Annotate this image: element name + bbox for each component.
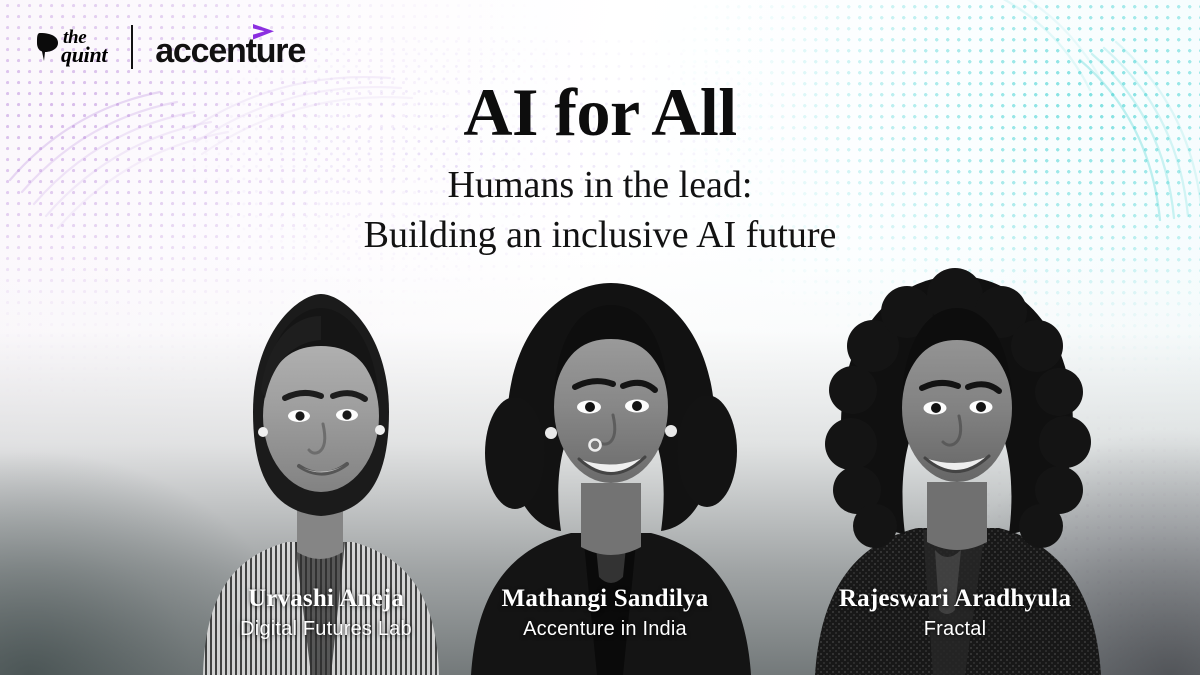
page-subtitle: Humans in the lead: Building an inclusiv… [0,161,1200,260]
accenture-logo[interactable]: accenture [155,26,305,68]
quint-line-quint: quint [61,46,107,64]
the-quint-logo[interactable]: the quint [36,30,107,64]
the-quint-wordmark: the quint [61,30,107,64]
speaker-name-2: Mathangi Sandilya [425,584,785,614]
accenture-wordmark: accenture [155,34,305,68]
page-title: AI for All [0,78,1200,147]
logo-bar: the quint accenture [36,22,305,72]
speaker-caption-2: Mathangi Sandilya Accenture in India [425,584,785,643]
subtitle-line-2: Building an inclusive AI future [0,211,1200,260]
subtitle-line-1: Humans in the lead: [0,161,1200,210]
greater-than-arrow-icon [250,22,278,42]
speaker-org-3: Fractal [775,616,1135,643]
logo-divider [131,25,133,69]
speaker-name-3: Rajeswari Aradhyula [775,584,1135,614]
speaker-org-2: Accenture in India [425,616,785,643]
speech-bubble-icon [36,32,60,62]
promo-banner: the quint accenture AI for All Humans in… [0,0,1200,675]
headline-block: AI for All Humans in the lead: Building … [0,78,1200,260]
speaker-caption-3: Rajeswari Aradhyula Fractal [775,584,1135,643]
